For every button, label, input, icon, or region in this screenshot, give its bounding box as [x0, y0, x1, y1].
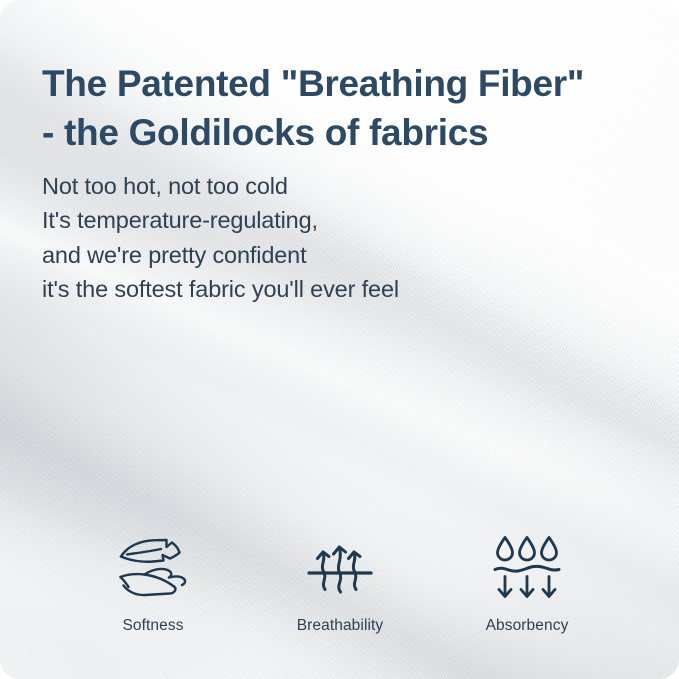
feather-on-hand-icon [114, 532, 192, 604]
feature-list: Softness [60, 532, 620, 635]
feature-label-breathability: Breathability [297, 616, 384, 635]
product-feature-banner: The Patented "Breathing Fiber" - the Gol… [0, 0, 679, 679]
feature-label-softness: Softness [122, 616, 183, 635]
feature-item-breathability: Breathability [247, 532, 433, 635]
water-droplets-absorb-icon [492, 532, 562, 604]
subcopy: Not too hot, not too cold It's temperatu… [42, 169, 512, 307]
feature-label-absorbency: Absorbency [486, 616, 569, 635]
headline: The Patented "Breathing Fiber" - the Gol… [42, 59, 657, 157]
feature-item-softness: Softness [60, 532, 246, 635]
rising-air-arrows-icon [306, 532, 374, 604]
feature-item-absorbency: Absorbency [434, 532, 620, 635]
